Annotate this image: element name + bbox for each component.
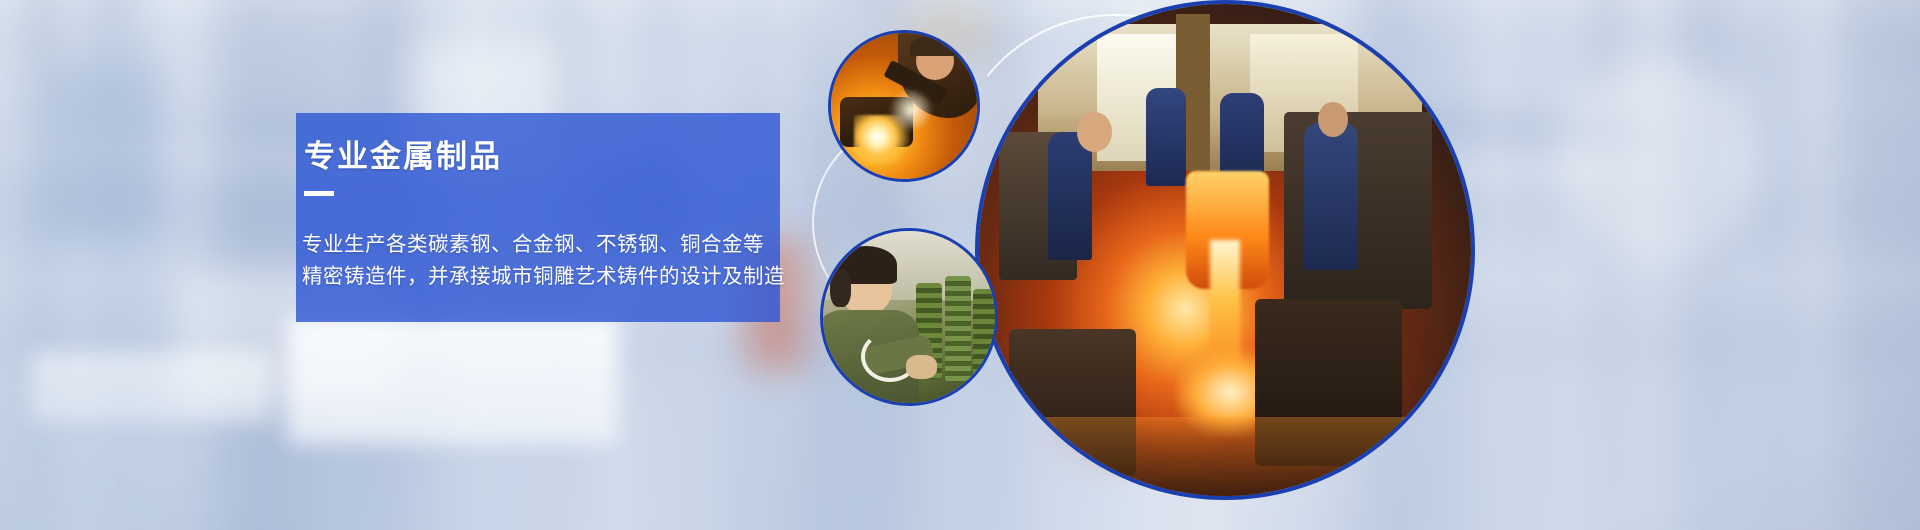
title-divider: [304, 191, 334, 196]
foundry-pour-photo: [975, 0, 1475, 500]
description-line-2: 精密铸造件，并承接城市铜雕艺术铸件的设计及制造: [302, 261, 785, 293]
background-highlight: [288, 316, 618, 444]
hero-banner: 专业金属制品 专业生产各类碳素钢、合金钢、不锈钢、铜合金等 精密铸造件，并承接城…: [0, 0, 1920, 530]
background-highlight-secondary: [30, 352, 270, 422]
welding-sparks-photo: [828, 30, 980, 182]
description-line-1: 专业生产各类碳素钢、合金钢、不锈钢、铜合金等: [302, 229, 785, 261]
page-title: 专业金属制品: [304, 138, 502, 175]
panel-description: 专业生产各类碳素钢、合金钢、不锈钢、铜合金等 精密铸造件，并承接城市铜雕艺术铸件…: [302, 229, 785, 293]
assembly-worker-photo: [820, 228, 998, 406]
